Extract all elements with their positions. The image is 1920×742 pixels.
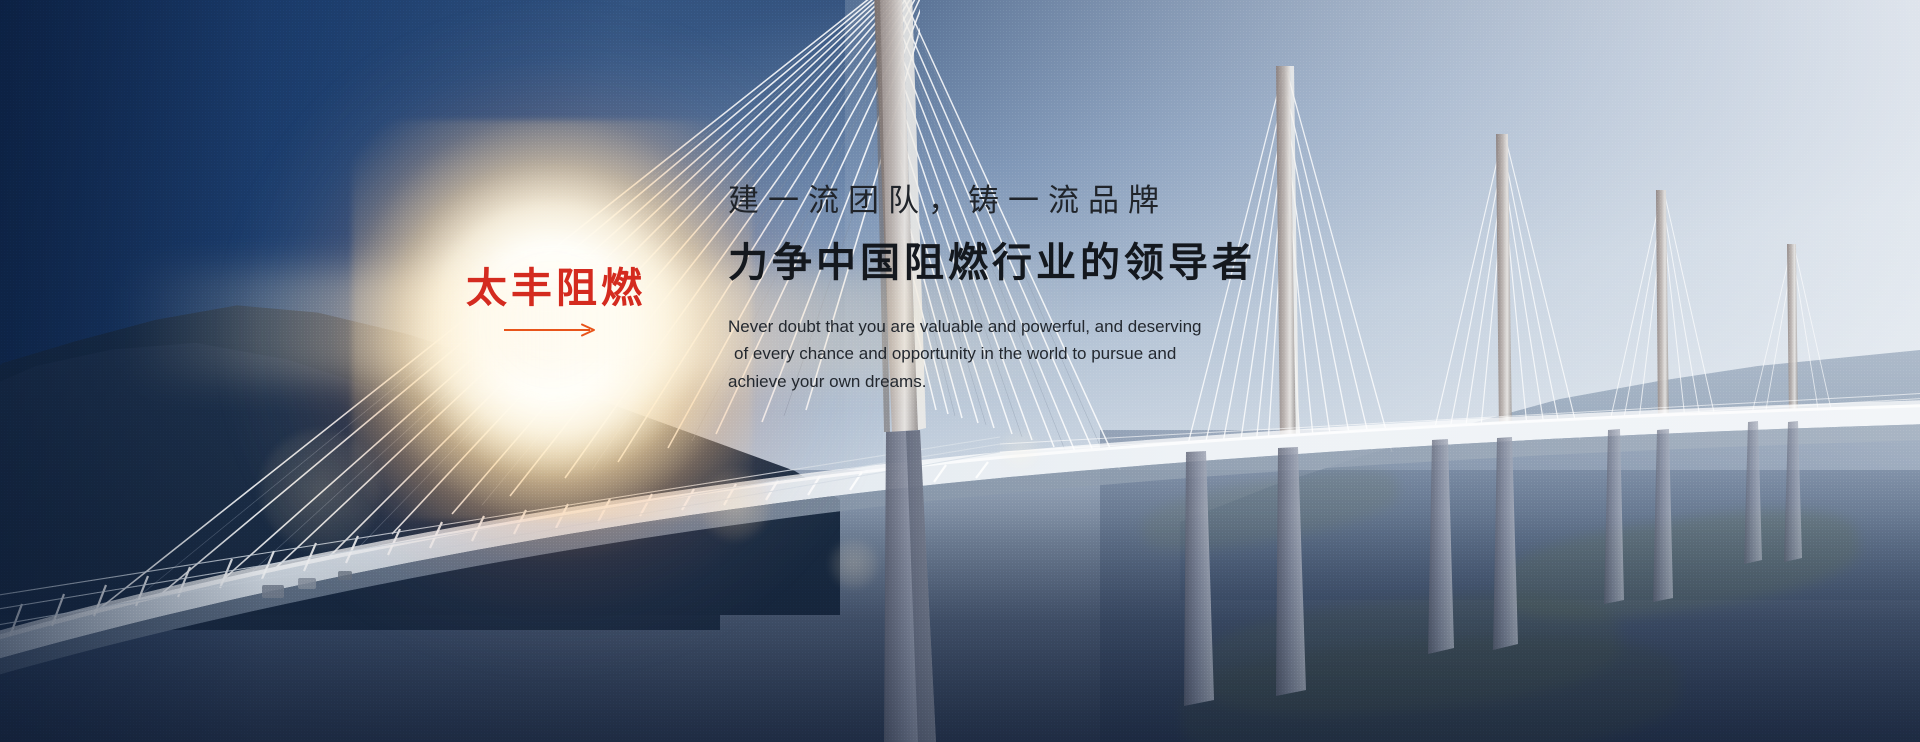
- banner-copy: 建一流团队，铸一流品牌 力争中国阻燃行业的领导者 Never doubt tha…: [728, 182, 1448, 395]
- paragraph-line-2: of every chance and opportunity in the w…: [728, 340, 1448, 368]
- headline-title: 力争中国阻燃行业的领导者: [728, 239, 1448, 287]
- hero-banner: 太丰阻燃 建一流团队，铸一流品牌 力争中国阻燃行业的领导者 Never doub…: [0, 0, 1920, 742]
- banner-paragraph: Never doubt that you are valuable and po…: [728, 313, 1448, 396]
- brand-logo[interactable]: 太丰阻燃: [466, 268, 646, 342]
- paragraph-line-3: achieve your own dreams.: [728, 368, 1448, 396]
- brand-logo-text: 太丰阻燃: [466, 268, 646, 309]
- headline-subtitle: 建一流团队，铸一流品牌: [728, 182, 1448, 221]
- banner-content: 太丰阻燃 建一流团队，铸一流品牌 力争中国阻燃行业的领导者 Never doub…: [0, 0, 1920, 742]
- paragraph-line-1: Never doubt that you are valuable and po…: [728, 313, 1448, 341]
- long-right-arrow-icon: [504, 323, 600, 337]
